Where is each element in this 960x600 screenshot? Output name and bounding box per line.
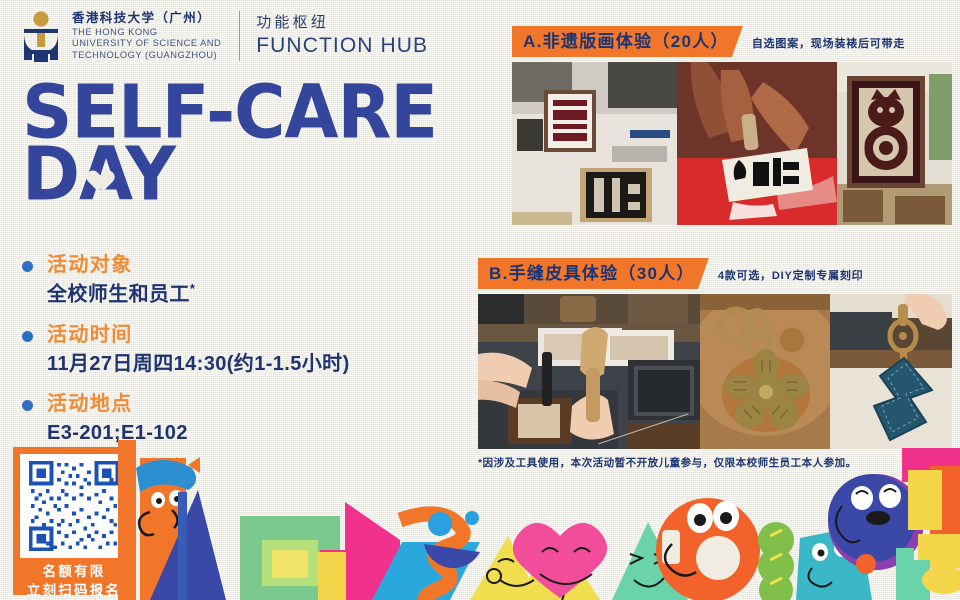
section-b-photos <box>478 294 952 449</box>
navy-bar <box>178 492 187 600</box>
list-item: 活动对象 全校师生和员工* <box>20 252 440 309</box>
info-asterisk: * <box>190 281 195 296</box>
photo-framed-cat-print <box>837 62 952 225</box>
green-blob <box>758 522 794 600</box>
university-name-cn: 香港科技大学（广州） <box>72 11 221 27</box>
section-b: B.手缝皮具体验（30人） 4款可选，DIY定制专属刻印 <box>478 258 952 449</box>
function-hub-cn: 功能枢纽 <box>256 13 428 33</box>
info-value: 全校师生和员工* <box>47 280 440 309</box>
section-b-subtitle: 4款可选，DIY定制专属刻印 <box>718 267 864 283</box>
university-name-block: 香港科技大学（广州） THE HONG KONG UNIVERSITY OF S… <box>72 11 221 61</box>
section-a: A.非遗版画体验（20人） 自选图案，现场装裱后可带走 <box>512 26 952 225</box>
function-hub-block: 功能枢纽 FUNCTION HUB <box>256 13 428 59</box>
photo-blue-leather-charm <box>830 294 952 449</box>
bullet-dot-icon <box>22 400 33 411</box>
orange-donut-face <box>656 498 760 600</box>
list-item: 活动地点 E3-201;E1-102 <box>20 391 440 447</box>
function-hub-en: FUNCTION HUB <box>256 33 428 59</box>
brand-header: 香港科技大学（广州） THE HONG KONG UNIVERSITY OF S… <box>18 10 428 62</box>
photo-hands-carving-block <box>677 62 837 225</box>
header-divider <box>239 11 240 61</box>
info-label: 活动对象 <box>47 252 440 279</box>
heart-cutout-icon <box>82 162 107 185</box>
colorful-shapes-characters-band <box>0 440 960 600</box>
bullet-dot-icon <box>22 261 33 272</box>
university-name-en-3: TECHNOLOGY (GUANGZHOU) <box>72 50 221 62</box>
section-b-header: B.手缝皮具体验（30人） 4款可选，DIY定制专属刻印 <box>478 258 952 289</box>
section-a-banner: A.非遗版画体验（20人） <box>512 26 743 57</box>
info-value: 11月27日周四14:30(约1-1.5小时) <box>47 350 440 378</box>
university-name-en-2: UNIVERSITY OF SCIENCE AND <box>72 38 221 50</box>
photo-framed-print-on-desk <box>512 62 677 225</box>
bullet-dot-icon <box>22 331 33 342</box>
photo-leather-stamping-hands <box>478 294 700 449</box>
section-a-photos <box>512 62 952 225</box>
section-a-subtitle: 自选图案，现场装裱后可带走 <box>752 35 905 51</box>
page-title: SELF-CARE DAY <box>22 78 414 202</box>
hkust-chalice-logo-icon <box>18 10 64 62</box>
info-label: 活动时间 <box>47 322 440 349</box>
info-value-text: 全校师生和员工 <box>47 284 190 306</box>
list-item: 活动时间 11月27日周四14:30(约1-1.5小时) <box>20 322 440 378</box>
title-day-wrapper: DAY <box>22 140 166 202</box>
info-label: 活动地点 <box>47 391 440 418</box>
university-name-en-1: THE HONG KONG <box>72 27 221 39</box>
poster-canvas: 香港科技大学（广州） THE HONG KONG UNIVERSITY OF S… <box>0 0 960 600</box>
event-info-list: 活动对象 全校师生和员工* 活动时间 11月27日周四14:30(约1-1.5小… <box>20 252 440 460</box>
section-a-header: A.非遗版画体验（20人） 自选图案，现场装裱后可带走 <box>512 26 952 57</box>
photo-brass-flower-keychain <box>700 294 830 449</box>
section-b-banner: B.手缝皮具体验（30人） <box>478 258 709 289</box>
